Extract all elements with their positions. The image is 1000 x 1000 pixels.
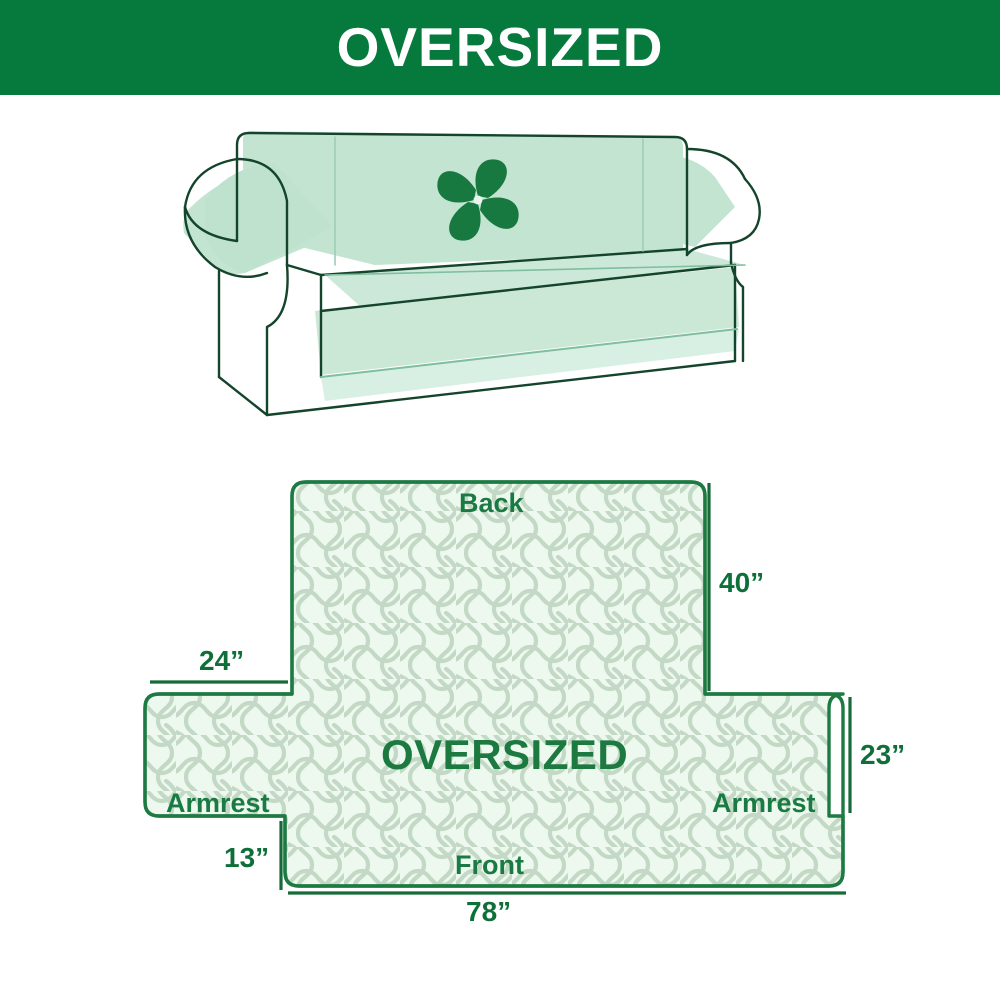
pinwheel-fan-icon [437, 159, 518, 240]
panel-label-back: Back [459, 488, 524, 519]
dimension-label-total-width: 78” [466, 896, 511, 928]
page-title: OVERSIZED [337, 20, 664, 75]
dimension-label-armrest-height: 23” [860, 739, 905, 771]
panel-label-armrest-right: Armrest [712, 788, 816, 819]
slipcover-shape [145, 482, 843, 886]
panel-label-front: Front [455, 850, 524, 881]
dimension-label-front-height: 13” [224, 842, 269, 874]
panel-label-armrest-left: Armrest [166, 788, 270, 819]
header-banner: OVERSIZED [0, 0, 1000, 95]
center-size-label: OVERSIZED [381, 731, 628, 779]
dimension-label-armrest-width: 24” [199, 645, 244, 677]
dimension-label-back-height: 40” [719, 567, 764, 599]
sofa-illustration [175, 115, 825, 440]
